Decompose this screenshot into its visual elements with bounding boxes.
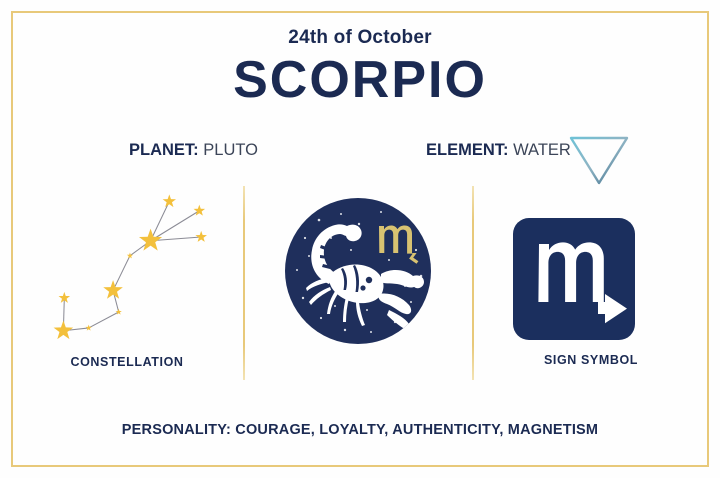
constellation-icon xyxy=(34,192,224,342)
constellation-star xyxy=(127,252,133,258)
sign-symbol-panel xyxy=(474,190,708,380)
constellation-star xyxy=(163,194,176,207)
constellation-line xyxy=(113,256,130,291)
planet-label: PLANET: xyxy=(129,141,199,159)
planet-value: PLUTO xyxy=(203,141,258,159)
page-title: SCORPIO xyxy=(0,53,720,108)
divider-left xyxy=(243,186,245,380)
date-text: 24th of October xyxy=(0,28,720,49)
element-value: WATER xyxy=(513,141,571,159)
planet-attribute: PLANET: PLUTO xyxy=(129,141,258,160)
zodiac-info-card: 24th of October SCORPIO PLANET: PLUTO EL… xyxy=(0,0,720,478)
personality-text: PERSONALITY: COURAGE, LOYALTY, AUTHENTIC… xyxy=(0,422,720,438)
constellation-star xyxy=(54,320,74,339)
element-attribute: ELEMENT: WATER xyxy=(426,141,571,160)
constellation-star xyxy=(116,309,122,315)
scorpion-medallion-icon xyxy=(285,198,431,344)
attributes-row: PLANET: PLUTO ELEMENT: WATER xyxy=(0,138,720,168)
constellation-star xyxy=(194,205,206,216)
constellation-star xyxy=(139,229,162,251)
card-header: 24th of October SCORPIO xyxy=(0,28,720,107)
element-label: ELEMENT: xyxy=(426,141,509,159)
scorpio-glyph xyxy=(379,226,418,264)
constellation-star xyxy=(195,231,207,242)
scorpio-sign-symbol-icon xyxy=(513,218,635,340)
constellation-label: CONSTELLATION xyxy=(12,355,242,369)
constellation-star xyxy=(103,280,123,299)
sign-symbol-label: SIGN SYMBOL xyxy=(474,353,708,367)
scorpion-shape xyxy=(306,224,424,329)
constellation-star xyxy=(86,325,92,331)
constellation-panel xyxy=(12,190,242,380)
water-triangle-icon xyxy=(565,132,633,188)
medallion-panel xyxy=(246,190,471,380)
constellation-line xyxy=(89,312,119,328)
